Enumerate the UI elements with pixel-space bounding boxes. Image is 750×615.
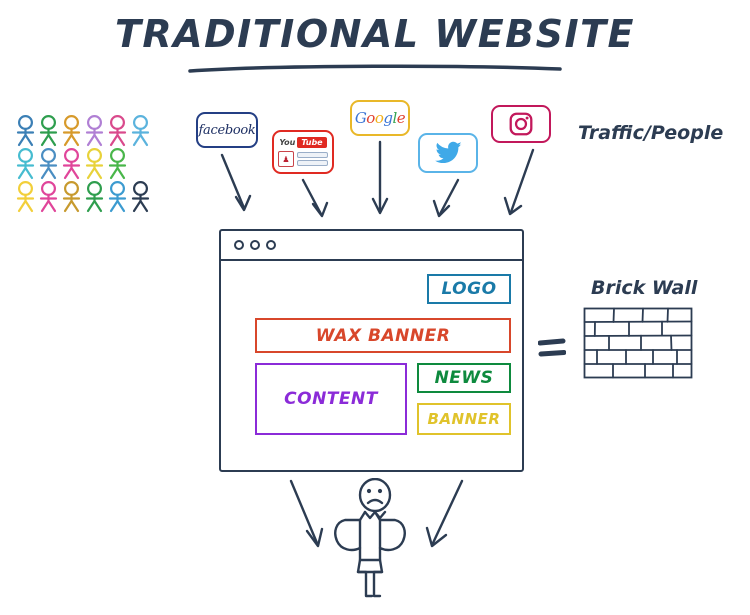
traditional-website-window[interactable]: LOGO WAX BANNER CONTENT NEWS BANNER [219,229,524,472]
youtube-list-line [297,152,328,158]
browser-dot-icon[interactable] [266,240,276,250]
banner-box[interactable]: BANNER [417,403,511,435]
arrow-facebook-to-window [222,155,244,208]
sad-person-figure [330,478,420,600]
person-figure [37,114,60,147]
traffic-people-crowd [14,114,154,220]
browser-titlebar [221,231,522,261]
person-figure [60,147,83,180]
wax-banner-box[interactable]: WAX BANNER [255,318,511,353]
twitter-icon[interactable] [418,133,478,173]
news-box[interactable]: NEWS [417,363,511,393]
logo-box-label: LOGO [441,279,496,299]
banner-box-label: BANNER [428,410,501,428]
instagram-camera-glyph [508,111,534,137]
twitter-bird-glyph [431,139,465,167]
people-row [14,114,154,147]
page-title-wrapper: TRADITIONAL WEBSITE [0,14,750,56]
browser-dot-icon[interactable] [234,240,244,250]
person-figure [14,114,37,147]
youtube-list-lines [297,152,328,166]
facebook-icon[interactable]: facebook [196,112,258,148]
content-box-label: CONTENT [284,389,378,409]
sad-eye-left [367,489,371,493]
person-figure [83,180,106,213]
people-row [14,147,154,180]
content-box[interactable]: CONTENT [255,363,407,435]
person-figure [60,114,83,147]
arrow-youtube-to-window [303,180,321,214]
person-figure [83,114,106,147]
instagram-icon[interactable] [491,105,551,143]
person-figure [106,180,129,213]
page-title: TRADITIONAL WEBSITE [115,12,635,56]
youtube-video-list: ♟ [278,151,328,167]
diagram-canvas: TRADITIONAL WEBSITE facebook You Tube ♟ … [0,0,750,615]
arrow-window-to-person-right [433,481,462,543]
person-figure [83,147,106,180]
wax-banner-box-label: WAX BANNER [316,326,451,346]
arrow-instagram-to-window [511,150,533,212]
person-figure [37,180,60,213]
people-row [14,180,154,213]
logo-box[interactable]: LOGO [427,274,511,304]
google-letter: o [366,109,375,127]
person-figure [129,114,152,147]
google-letter: G [355,109,366,127]
news-box-label: NEWS [435,368,494,388]
person-figure [106,114,129,147]
youtube-tube-text: Tube [297,137,326,148]
person-figure [14,180,37,213]
browser-dot-icon[interactable] [250,240,260,250]
youtube-list-line [297,160,328,166]
person-figure [37,147,60,180]
google-letter: e [397,109,405,127]
sad-eye-right [378,489,382,493]
google-wordmark: Google [355,109,405,127]
youtube-wordmark: You Tube [279,137,326,148]
brick-wall-label: Brick Wall [591,277,697,299]
arrow-twitter-to-window [440,180,458,214]
traffic-people-label: Traffic/People [578,122,723,144]
person-figure [106,147,129,180]
person-figure [60,180,83,213]
brick-wall-illustration [583,307,693,379]
arrow-window-to-person-left [291,481,317,543]
person-figure [129,180,152,213]
facebook-label: facebook [199,123,256,138]
equals-sign [538,335,566,361]
youtube-you-text: You [279,138,295,147]
title-underline [188,64,562,74]
youtube-icon[interactable]: You Tube ♟ [272,130,334,174]
person-figure [14,147,37,180]
youtube-thumbnail-icon: ♟ [278,151,294,167]
google-icon[interactable]: Google [350,100,410,136]
